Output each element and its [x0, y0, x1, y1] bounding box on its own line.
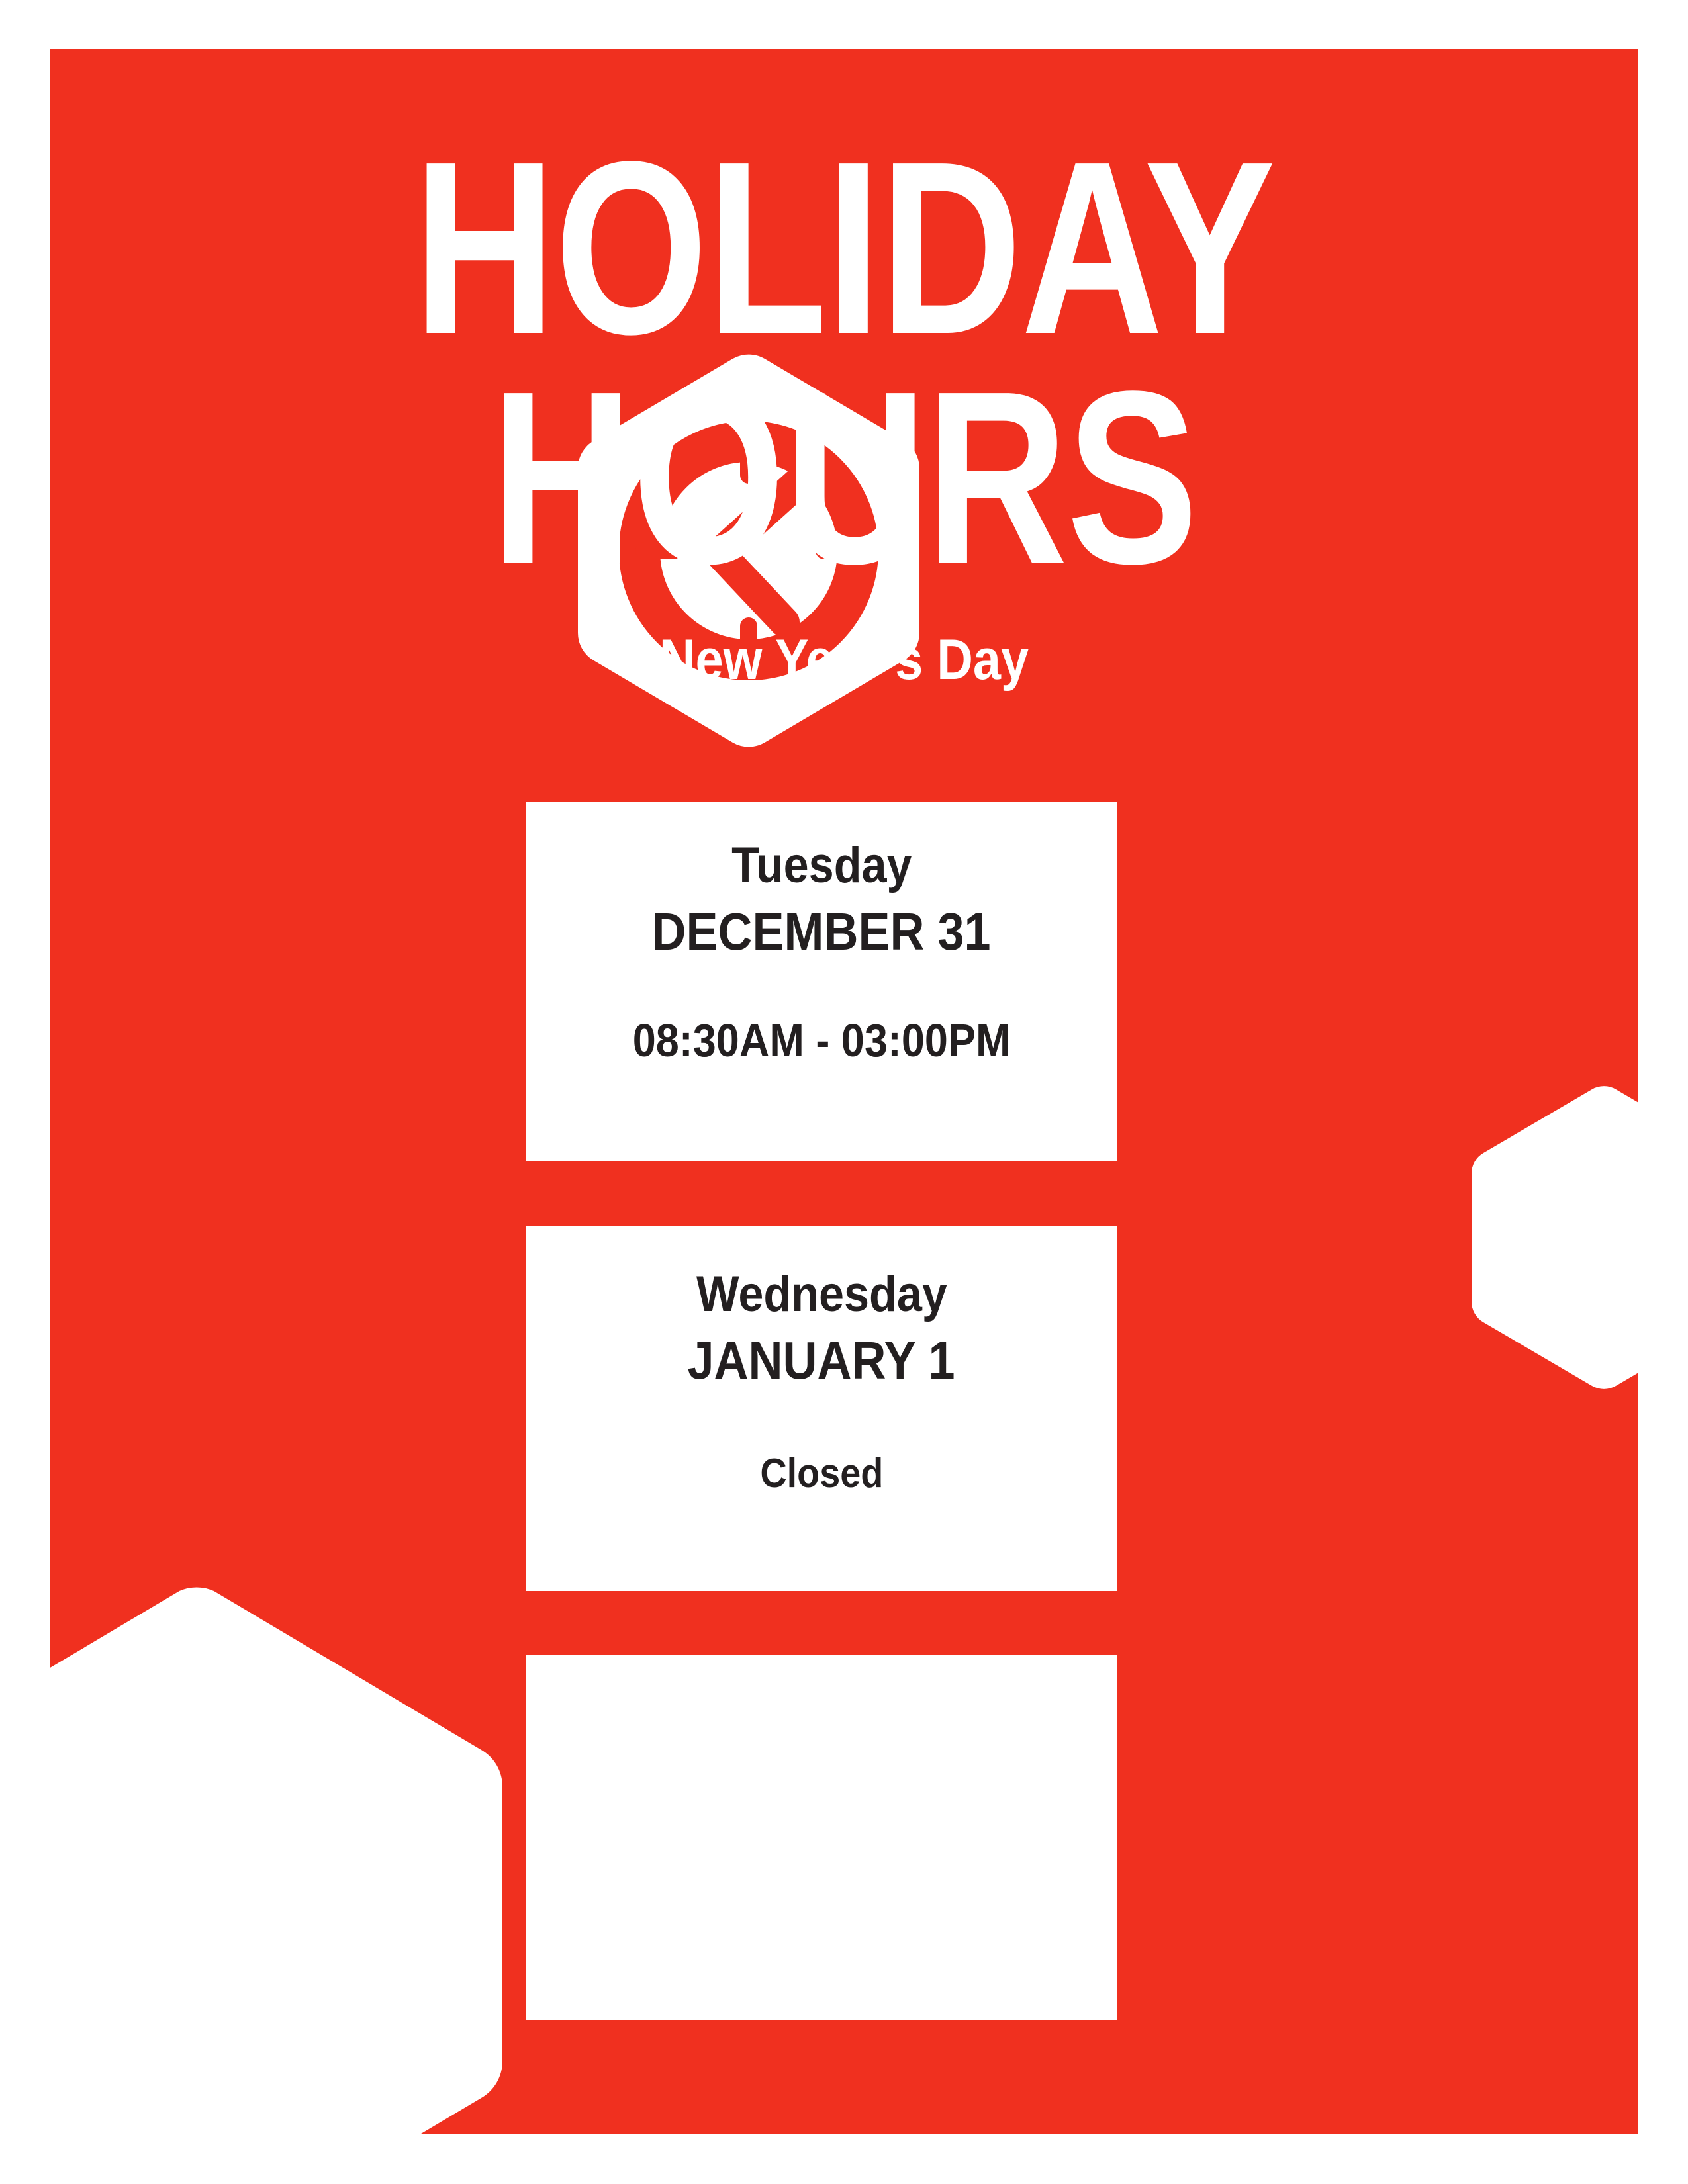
hours-card-1: Tuesday DECEMBER 31 08:30AM - 03:00PM	[526, 802, 1117, 1161]
small-hexagon-right	[1472, 1086, 1638, 1389]
poster-red-panel: HOLIDAY HOURS New Year’s Day Tuesday DEC…	[50, 49, 1638, 2134]
card-2-weekday: Wednesday	[696, 1268, 947, 1321]
card-2-date: JANUARY 1	[688, 1333, 955, 1388]
card-2-hours: Closed	[760, 1452, 883, 1495]
card-3-empty-area	[526, 1655, 1117, 2020]
corner-hexagon-bottom-left	[50, 1587, 502, 2134]
poster-subtitle: New Year’s Day	[145, 631, 1543, 688]
title-line-holiday: HOLIDAY	[209, 128, 1479, 367]
page-title: HOLIDAY HOURS	[50, 128, 1638, 597]
card-1-date: DECEMBER 31	[652, 904, 991, 960]
title-line-hours: HOURS	[209, 358, 1479, 597]
poster-page: HOLIDAY HOURS New Year’s Day Tuesday DEC…	[0, 0, 1688, 2184]
card-1-hours: 08:30AM - 03:00PM	[633, 1017, 1011, 1066]
hours-card-3-blank	[526, 1655, 1117, 2020]
card-1-weekday: Tuesday	[731, 839, 912, 892]
hours-card-2: Wednesday JANUARY 1 Closed	[526, 1226, 1117, 1591]
